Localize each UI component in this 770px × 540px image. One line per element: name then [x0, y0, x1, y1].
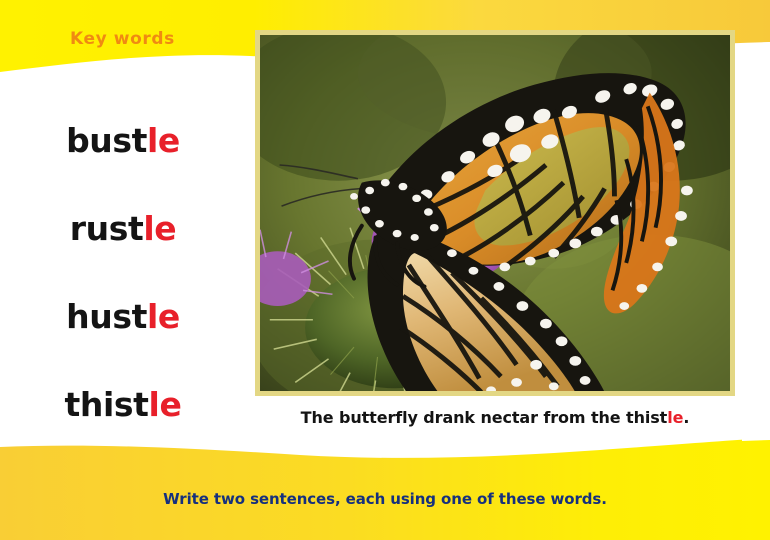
right-white-wedge [740, 42, 770, 441]
key-word: rustle [70, 209, 177, 248]
caption-suffix: le [667, 408, 683, 427]
word-suffix: le [147, 121, 180, 160]
word-stem: thist [65, 385, 149, 424]
page-title: Key words [70, 29, 175, 49]
key-word: thistle [65, 385, 182, 424]
list-item: hustle [0, 272, 250, 360]
word-stem: hust [66, 297, 147, 336]
list-item: rustle [0, 184, 250, 272]
key-word: hustle [66, 297, 180, 336]
word-suffix: le [149, 385, 182, 424]
word-stem: rust [70, 209, 144, 248]
slide-canvas: Key words bustle rustle hustle thistle [0, 0, 770, 540]
word-suffix: le [147, 297, 180, 336]
word-suffix: le [143, 209, 176, 248]
bottom-yellow-band [0, 438, 770, 540]
photo-frame [255, 30, 735, 396]
word-stem: bust [66, 121, 147, 160]
list-item: bustle [0, 96, 250, 184]
caption-text: The butterfly drank nectar from the this… [301, 408, 668, 427]
key-word: bustle [66, 121, 180, 160]
butterfly-photo [260, 35, 730, 391]
photo-caption: The butterfly drank nectar from the this… [255, 408, 735, 427]
list-item: thistle [0, 360, 250, 448]
caption-period: . [683, 408, 689, 427]
key-words-list: bustle rustle hustle thistle [0, 96, 250, 448]
task-instruction: Write two sentences, each using one of t… [0, 490, 770, 508]
butterfly-on-thistle-illustration [260, 35, 730, 391]
